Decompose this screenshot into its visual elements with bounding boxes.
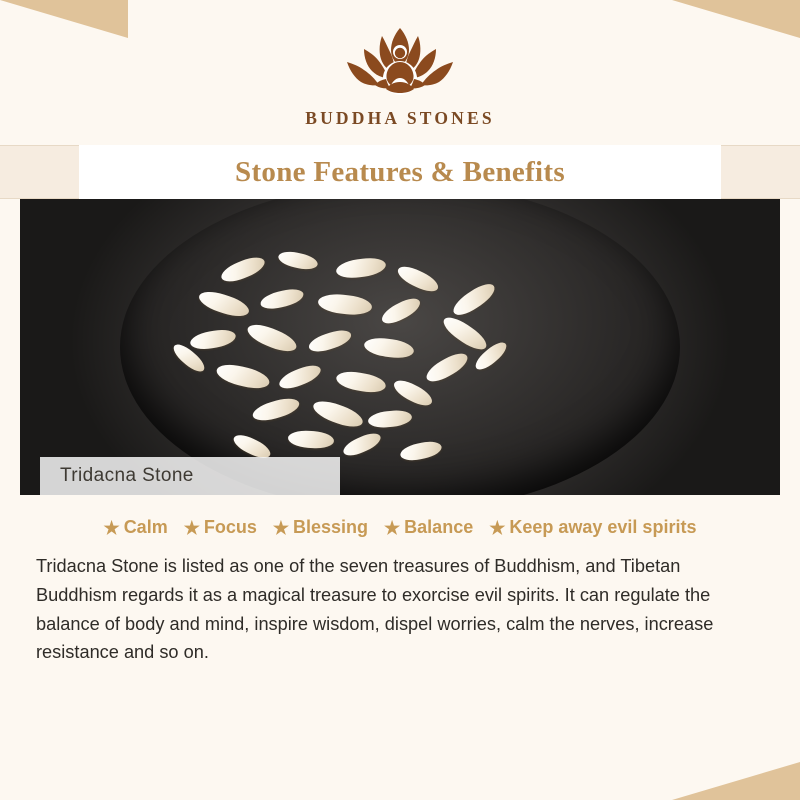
stone-name-text: Tridacna Stone: [60, 465, 194, 487]
stone-name-label: Tridacna Stone: [40, 457, 340, 495]
lotus-meditation-logo-icon: [325, 22, 475, 106]
description-paragraph: Tridacna Stone is listed as one of the s…: [36, 552, 764, 667]
star-icon: ★: [273, 519, 289, 537]
benefit-item: ★ Keep away evil spirits: [489, 517, 696, 538]
corner-decoration-bottom-right: [672, 762, 800, 800]
product-photo: Tridacna Stone: [20, 199, 780, 495]
corner-decoration-bottom-left: [0, 762, 128, 800]
section-title-band: Stone Features & Benefits: [0, 145, 800, 199]
title-band-inner: Stone Features & Benefits: [80, 146, 720, 198]
page-root: BUDDHA STONES Stone Features & Benefits: [0, 0, 800, 800]
brand-header: BUDDHA STONES: [0, 0, 800, 145]
benefit-item: ★ Blessing: [273, 517, 368, 538]
benefit-item: ★ Calm: [104, 517, 168, 538]
page-title: Stone Features & Benefits: [235, 156, 565, 189]
benefit-item: ★ Focus: [184, 517, 257, 538]
benefits-list: ★ Calm ★ Focus ★ Blessing ★ Balance ★ Ke…: [0, 517, 800, 538]
benefit-label: Balance: [404, 517, 473, 538]
brand-name: BUDDHA STONES: [305, 108, 495, 129]
benefit-label: Blessing: [293, 517, 368, 538]
star-icon: ★: [104, 519, 120, 537]
star-icon: ★: [384, 519, 400, 537]
star-icon: ★: [489, 519, 505, 537]
benefit-label: Focus: [204, 517, 257, 538]
benefit-label: Calm: [124, 517, 168, 538]
star-icon: ★: [184, 519, 200, 537]
benefit-label: Keep away evil spirits: [509, 517, 696, 538]
bottom-spacer: [0, 667, 800, 707]
benefit-item: ★ Balance: [384, 517, 473, 538]
